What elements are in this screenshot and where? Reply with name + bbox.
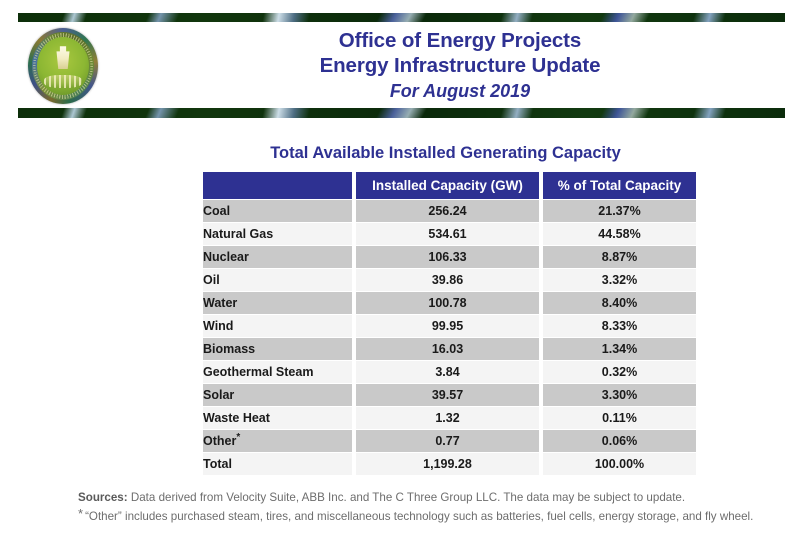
table-row: Biomass16.031.34%	[203, 338, 696, 360]
cell-percent-total: 0.32%	[543, 361, 696, 383]
page-header: Office of Energy Projects Energy Infrast…	[0, 0, 800, 124]
footnote-other: *“Other” includes purchased steam, tires…	[78, 508, 784, 526]
title-subtitle: For August 2019	[160, 79, 760, 104]
asterisk-icon: *	[78, 506, 83, 521]
footnote-sources-text: Data derived from Velocity Suite, ABB In…	[131, 491, 685, 504]
cell-energy-source: Total	[203, 453, 352, 475]
ferc-seal-icon	[28, 28, 98, 104]
footnote-sources: Sources: Data derived from Velocity Suit…	[78, 489, 784, 507]
cell-installed-capacity: 16.03	[356, 338, 539, 360]
cell-installed-capacity: 39.86	[356, 269, 539, 291]
cell-installed-capacity: 1.32	[356, 407, 539, 429]
cell-energy-source: Nuclear	[203, 246, 352, 268]
cell-energy-source: Solar	[203, 384, 352, 406]
cell-percent-total: 8.33%	[543, 315, 696, 337]
column-header-percent-total: % of Total Capacity	[543, 172, 696, 199]
table-row: Other*0.770.06%	[203, 430, 696, 452]
cell-percent-total: 8.87%	[543, 246, 696, 268]
title-line-2: Energy Infrastructure Update	[160, 53, 760, 78]
table-row: Waste Heat1.320.11%	[203, 407, 696, 429]
cell-energy-source: Other*	[203, 430, 352, 452]
footnote-other-text: “Other” includes purchased steam, tires,…	[85, 510, 753, 523]
table-row: Nuclear106.338.87%	[203, 246, 696, 268]
cell-percent-total: 44.58%	[543, 223, 696, 245]
cell-energy-source: Water	[203, 292, 352, 314]
footnote-marker-icon: *	[236, 432, 240, 443]
table-body: Coal256.2421.37%Natural Gas534.6144.58%N…	[203, 200, 696, 475]
seal-base-emblem	[44, 75, 81, 88]
cell-percent-total: 0.11%	[543, 407, 696, 429]
table-row: Geothermal Steam3.840.32%	[203, 361, 696, 383]
table-row: Total1,199.28100.00%	[203, 453, 696, 475]
cell-percent-total: 8.40%	[543, 292, 696, 314]
column-header-installed-capacity: Installed Capacity (GW)	[356, 172, 539, 199]
table-header-row: Installed Capacity (GW) % of Total Capac…	[203, 172, 696, 199]
cell-percent-total: 0.06%	[543, 430, 696, 452]
title-line-1: Office of Energy Projects	[160, 28, 760, 53]
column-header-source	[203, 172, 352, 199]
cell-energy-source: Wind	[203, 315, 352, 337]
table-row: Wind99.958.33%	[203, 315, 696, 337]
cell-installed-capacity: 3.84	[356, 361, 539, 383]
cell-energy-source: Biomass	[203, 338, 352, 360]
seal-face	[37, 37, 89, 95]
cell-energy-source: Waste Heat	[203, 407, 352, 429]
cell-energy-source: Geothermal Steam	[203, 361, 352, 383]
cell-installed-capacity: 0.77	[356, 430, 539, 452]
installed-capacity-table: Installed Capacity (GW) % of Total Capac…	[199, 171, 700, 476]
table-row: Natural Gas534.6144.58%	[203, 223, 696, 245]
cell-energy-source: Natural Gas	[203, 223, 352, 245]
header-decorative-band-bottom	[18, 108, 785, 118]
cell-energy-source: Coal	[203, 200, 352, 222]
cell-installed-capacity: 1,199.28	[356, 453, 539, 475]
cell-percent-total: 100.00%	[543, 453, 696, 475]
table-row: Water100.788.40%	[203, 292, 696, 314]
table-title: Total Available Installed Generating Cap…	[199, 144, 692, 163]
cell-percent-total: 21.37%	[543, 200, 696, 222]
cell-percent-total: 3.32%	[543, 269, 696, 291]
table-row: Oil39.863.32%	[203, 269, 696, 291]
cell-installed-capacity: 39.57	[356, 384, 539, 406]
table-row: Coal256.2421.37%	[203, 200, 696, 222]
table-row: Solar39.573.30%	[203, 384, 696, 406]
cell-installed-capacity: 100.78	[356, 292, 539, 314]
cell-percent-total: 1.34%	[543, 338, 696, 360]
footnotes: Sources: Data derived from Velocity Suit…	[78, 489, 784, 527]
cell-energy-source: Oil	[203, 269, 352, 291]
footnote-sources-label: Sources:	[78, 491, 128, 504]
table-header: Installed Capacity (GW) % of Total Capac…	[203, 172, 696, 199]
cell-percent-total: 3.30%	[543, 384, 696, 406]
cell-installed-capacity: 106.33	[356, 246, 539, 268]
cell-installed-capacity: 99.95	[356, 315, 539, 337]
cell-installed-capacity: 534.61	[356, 223, 539, 245]
cell-installed-capacity: 256.24	[356, 200, 539, 222]
page-title: Office of Energy Projects Energy Infrast…	[160, 28, 760, 104]
header-decorative-band-top	[18, 13, 785, 22]
